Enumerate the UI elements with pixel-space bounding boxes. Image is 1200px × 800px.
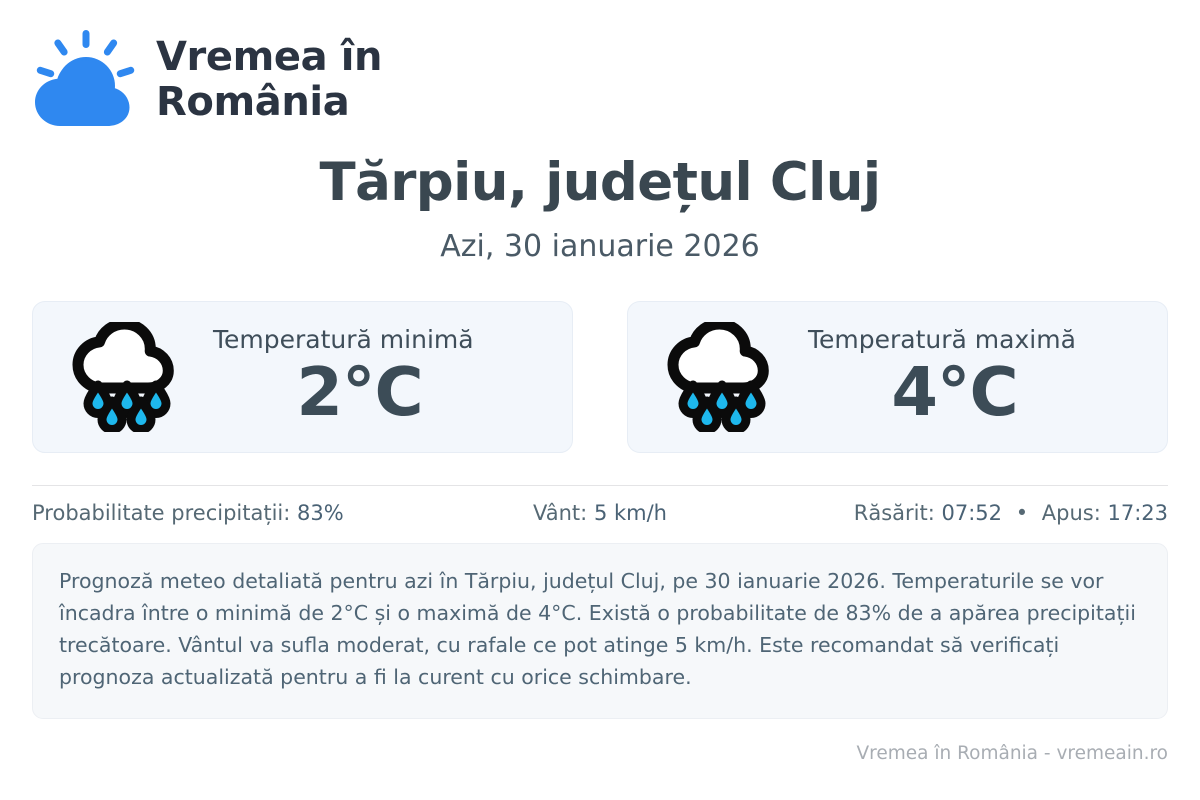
temperature-label-max: Temperatură maximă xyxy=(808,326,1141,354)
wind-label: Vânt: xyxy=(533,501,587,525)
title-block: Tărpiu, județul Cluj Azi, 30 ianuarie 20… xyxy=(32,154,1168,263)
stats-row: Probabilitate precipitații: 83% Vânt: 5 … xyxy=(32,486,1168,540)
temperature-text-max: Temperatură maximă 4°C xyxy=(808,326,1141,428)
precipitation-value: 83% xyxy=(297,501,344,525)
sunrise-value: 07:52 xyxy=(941,501,1002,525)
stat-sun: Răsărit: 07:52 • Apus: 17:23 xyxy=(789,501,1168,525)
temperature-label-min: Temperatură minimă xyxy=(213,326,546,354)
precipitation-label: Probabilitate precipitații: xyxy=(32,501,290,525)
temperature-value-max: 4°C xyxy=(808,356,1141,428)
sun-separator: • xyxy=(1009,501,1035,525)
temperature-card-max: Temperatură maximă 4°C xyxy=(627,301,1168,453)
footer-credit: Vremea în România - vremeain.ro xyxy=(857,743,1168,764)
temperature-cards: Temperatură minimă 2°C Temperatură maxim… xyxy=(32,301,1168,453)
stat-wind: Vânt: 5 km/h xyxy=(411,501,790,525)
sun-behind-cloud-icon xyxy=(32,29,138,131)
page-title: Tărpiu, județul Cluj xyxy=(32,154,1168,212)
sunset-value: 17:23 xyxy=(1107,501,1168,525)
stat-precipitation: Probabilitate precipitații: 83% xyxy=(32,501,411,525)
temperature-card-min: Temperatură minimă 2°C xyxy=(32,301,573,453)
sunrise-label: Răsărit: xyxy=(854,501,935,525)
rain-cloud-icon xyxy=(666,322,782,432)
sunset-label: Apus: xyxy=(1042,501,1101,525)
weather-page: Vremea în România Tărpiu, județul Cluj A… xyxy=(0,0,1200,800)
temperature-text-min: Temperatură minimă 2°C xyxy=(213,326,546,428)
forecast-description: Prognoză meteo detaliată pentru azi în T… xyxy=(32,543,1168,719)
brand-header: Vremea în România xyxy=(32,0,1168,112)
rain-cloud-icon xyxy=(71,322,187,432)
temperature-value-min: 2°C xyxy=(213,356,546,428)
wind-value: 5 km/h xyxy=(594,501,667,525)
brand-name: Vremea în România xyxy=(156,35,382,125)
page-subtitle: Azi, 30 ianuarie 2026 xyxy=(32,230,1168,263)
